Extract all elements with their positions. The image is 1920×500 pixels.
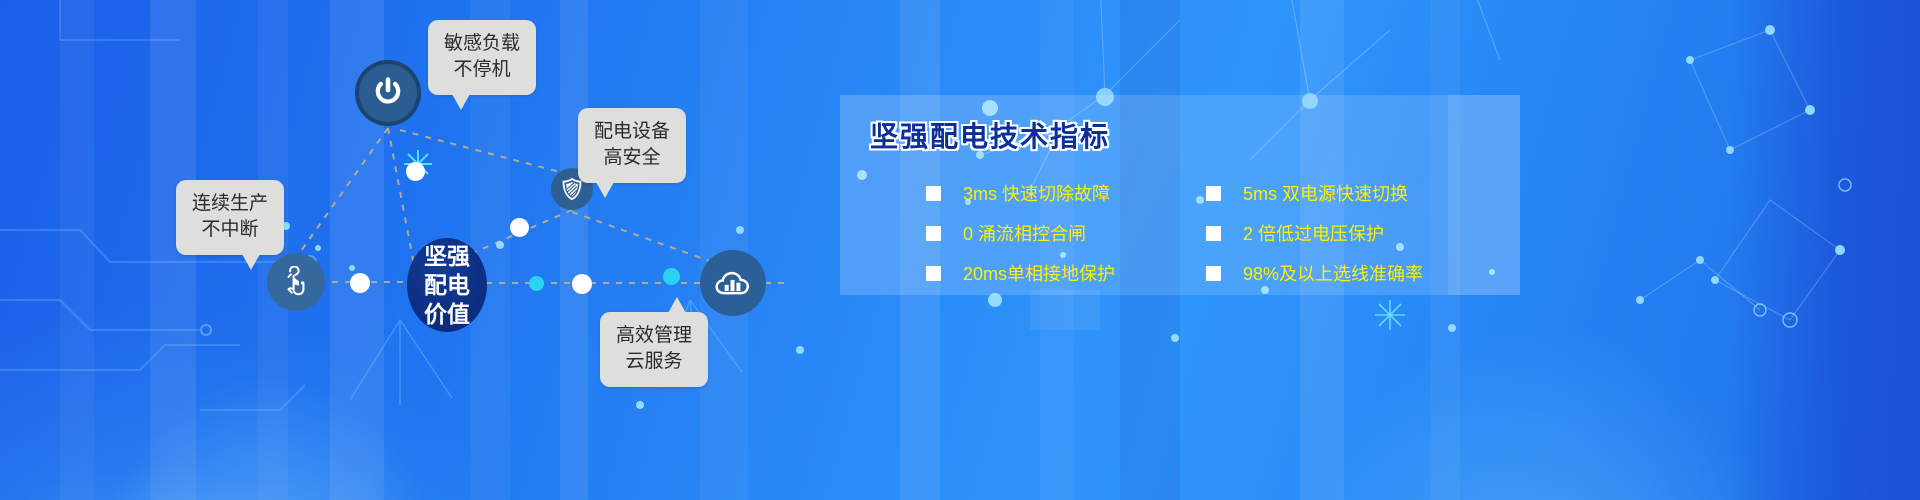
center-node-line2: 配电: [424, 271, 470, 300]
spec-item: 0 涌流相控合闸: [926, 213, 1115, 253]
connector-dot: [510, 218, 529, 237]
spec-panel-title: 坚强配电技术指标: [870, 115, 1110, 155]
callout-power: 敏感负载 不停机: [428, 20, 536, 95]
spec-item-label: 98%及以上选线准确率: [1243, 260, 1423, 286]
spec-item: 3ms 快速切除故障: [926, 173, 1115, 213]
diagram-node-hand[interactable]: [267, 253, 325, 311]
connector-dot-cyan: [663, 268, 680, 285]
bubble-tail: [452, 94, 470, 110]
connector-dot: [406, 162, 425, 181]
bg-glow-bottom-left-2: [60, 360, 480, 500]
callout-cloud-line1: 高效管理: [616, 323, 692, 349]
diagram-center-node[interactable]: 坚强 配电 价值: [407, 238, 487, 332]
center-node-line3: 价值: [424, 300, 470, 329]
square-bullet-icon: [926, 226, 941, 241]
spec-item-label: 0 涌流相控合闸: [963, 220, 1086, 246]
connector-dot-cyan: [529, 276, 544, 291]
spec-item-label: 2 倍低过电压保护: [1243, 220, 1384, 246]
shield-icon: [560, 177, 584, 201]
spec-item: 5ms 双电源快速切换: [1206, 173, 1423, 213]
spec-item-label: 20ms单相接地保护: [963, 260, 1115, 286]
connector-dot: [350, 273, 370, 293]
callout-hand: 连续生产 不中断: [176, 180, 284, 255]
callout-power-line2: 不停机: [444, 57, 520, 83]
power-icon: [371, 76, 405, 110]
callout-cloud-line2: 云服务: [616, 349, 692, 375]
square-bullet-icon: [926, 266, 941, 281]
bg-right-shade: [1730, 0, 1920, 500]
spec-item-label: 3ms 快速切除故障: [963, 180, 1110, 206]
spec-column-right: 5ms 双电源快速切换 2 倍低过电压保护 98%及以上选线准确率: [1206, 173, 1423, 293]
bubble-tail: [596, 182, 614, 198]
square-bullet-icon: [926, 186, 941, 201]
cloud-chart-icon: [713, 263, 753, 303]
spec-item: 2 倍低过电压保护: [1206, 213, 1423, 253]
callout-shield: 配电设备 高安全: [578, 108, 686, 183]
bg-accent-rect: [1030, 290, 1100, 330]
banner-stage: 敏感负载 不停机 配电设备 高安全: [0, 0, 1920, 500]
callout-cloud: 高效管理 云服务: [600, 312, 708, 387]
connector-dot: [572, 274, 592, 294]
callout-hand-line2: 不中断: [192, 217, 268, 243]
hand-tap-icon: [280, 266, 312, 298]
square-bullet-icon: [1206, 226, 1221, 241]
spec-item-label: 5ms 双电源快速切换: [1243, 180, 1408, 206]
spec-panel: 坚强配电技术指标 3ms 快速切除故障 0 涌流相控合闸 20ms单相接地保护 …: [840, 95, 1520, 295]
callout-shield-line1: 配电设备: [594, 119, 670, 145]
spec-item: 20ms单相接地保护: [926, 253, 1115, 293]
bg-glow-bottom-right: [1280, 320, 1800, 500]
spec-item: 98%及以上选线准确率: [1206, 253, 1423, 293]
center-node-line1: 坚强: [424, 242, 470, 271]
square-bullet-icon: [1206, 186, 1221, 201]
diagram-node-power[interactable]: [355, 60, 421, 126]
bg-stripe: [60, 0, 94, 500]
bubble-tail: [242, 254, 260, 270]
bubble-tail: [668, 297, 686, 313]
bg-stripe: [560, 0, 588, 500]
spec-column-left: 3ms 快速切除故障 0 涌流相控合闸 20ms单相接地保护: [926, 173, 1115, 293]
callout-power-line1: 敏感负载: [444, 31, 520, 57]
square-bullet-icon: [1206, 266, 1221, 281]
diagram-node-cloud[interactable]: [700, 250, 766, 316]
callout-shield-line2: 高安全: [594, 145, 670, 171]
callout-hand-line1: 连续生产: [192, 191, 268, 217]
